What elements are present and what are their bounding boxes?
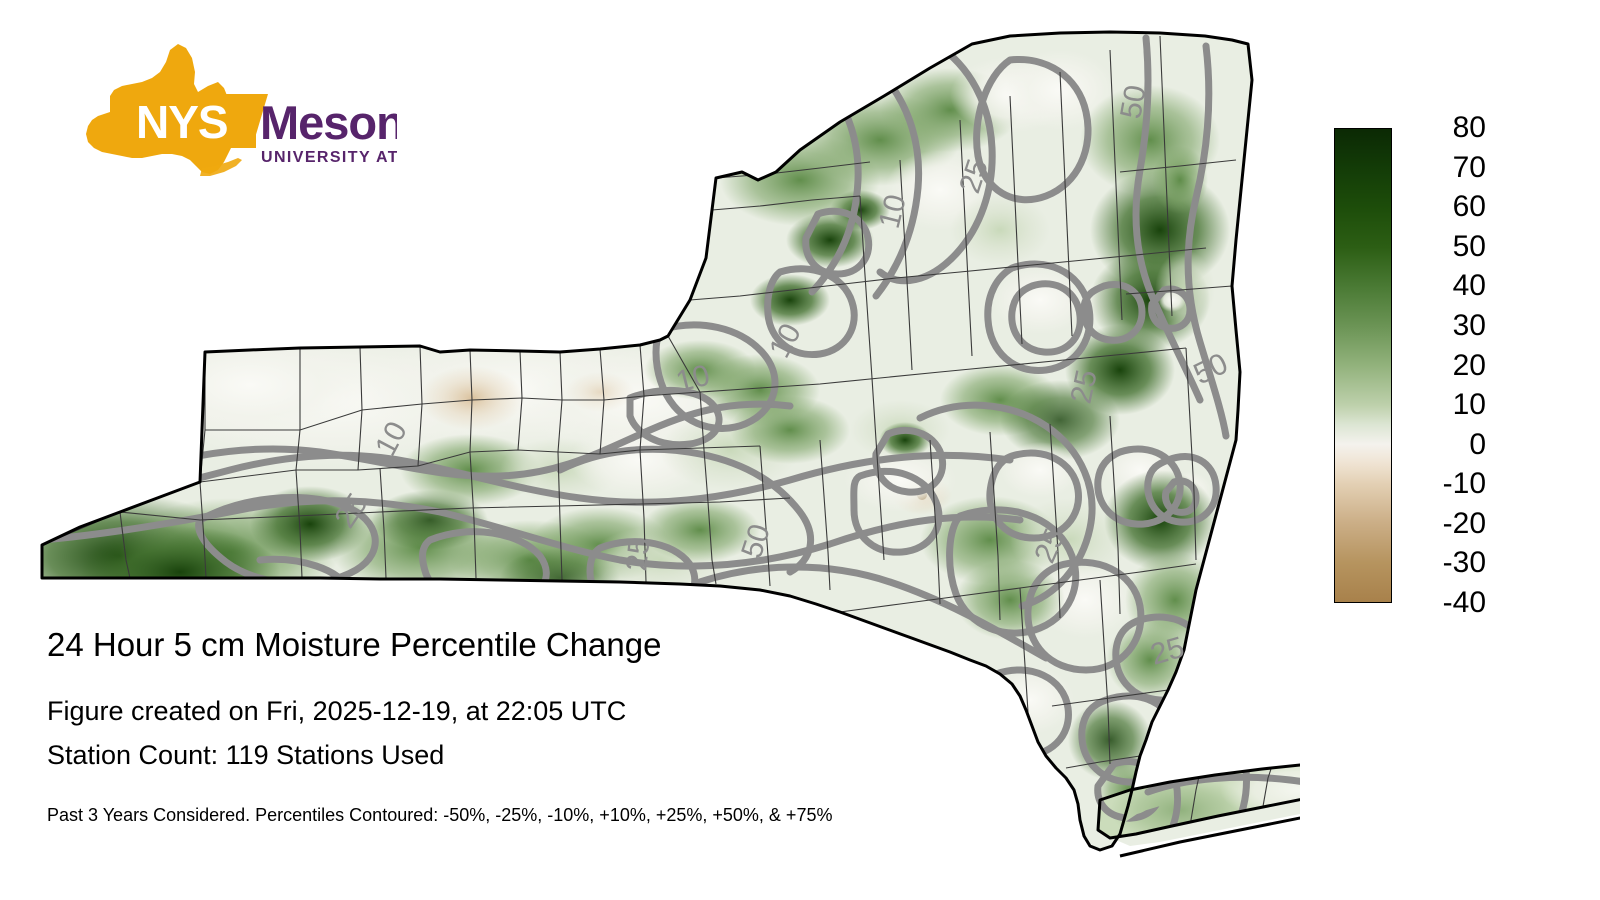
logo-mesonet-text: Mesonet: [260, 96, 397, 149]
colorbar-tick-20: 20: [1394, 351, 1486, 381]
contour-label: 25: [620, 536, 656, 573]
figure-station-count-line: Station Count: 119 Stations Used: [47, 739, 1127, 772]
colorbar-tick-80: 80: [1394, 113, 1486, 143]
colorbar-tick-0: 0: [1394, 430, 1486, 460]
colorbar-tick-40: 40: [1394, 271, 1486, 301]
colorbar-tick--40: -40: [1394, 588, 1486, 618]
colorbar: 80706050403020100-10-20-30-40: [1334, 128, 1574, 608]
contour-label: 50: [1114, 83, 1152, 122]
figure-footnote: Past 3 Years Considered. Percentiles Con…: [47, 804, 1127, 826]
colorbar-tick--10: -10: [1394, 469, 1486, 499]
figure-text-block: 24 Hour 5 cm Moisture Percentile Change …: [47, 625, 1127, 826]
colorbar-tick-labels: 80706050403020100-10-20-30-40: [1394, 128, 1514, 603]
colorbar-gradient: [1334, 128, 1392, 603]
colorbar-tick-70: 70: [1394, 153, 1486, 183]
colorbar-tick-10: 10: [1394, 390, 1486, 420]
figure-title: 24 Hour 5 cm Moisture Percentile Change: [47, 625, 1127, 665]
contour-label: 25: [1065, 367, 1104, 407]
colorbar-tick-60: 60: [1394, 192, 1486, 222]
colorbar-tick-50: 50: [1394, 232, 1486, 262]
logo-tagline: UNIVERSITY AT ALBANY: [261, 149, 397, 166]
nys-mesonet-logo: NYS Mesonet UNIVERSITY AT ALBANY: [52, 42, 397, 182]
colorbar-tick--30: -30: [1394, 548, 1486, 578]
colorbar-tick-30: 30: [1394, 311, 1486, 341]
logo-svg: NYS Mesonet UNIVERSITY AT ALBANY: [52, 42, 397, 182]
figure-created-line: Figure created on Fri, 2025-12-19, at 22…: [47, 695, 1127, 728]
logo-nys-text: NYS: [136, 96, 228, 148]
figure-canvas: 50 25 10 10 10 10 50 25 25 25 25 25 50: [0, 0, 1600, 900]
colorbar-tick--20: -20: [1394, 509, 1486, 539]
